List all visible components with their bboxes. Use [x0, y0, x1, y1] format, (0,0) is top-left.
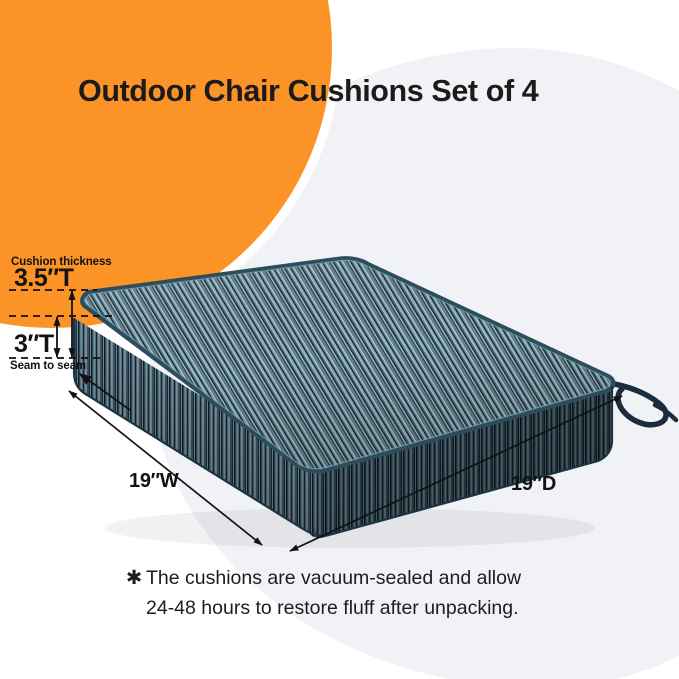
page-title: Outdoor Chair Cushions Set of 4: [78, 74, 538, 109]
footnote-line-1: The cushions are vacuum-sealed and allow: [146, 567, 521, 589]
width-label: 19″W: [129, 470, 179, 493]
seam-caption: Seam to seam: [10, 360, 86, 372]
footnote-line-2: 24-48 hours to restore fluff after unpac…: [126, 593, 521, 623]
footnote: ✱The cushions are vacuum-sealed and allo…: [126, 563, 521, 623]
seam-value-label: 3″T: [14, 330, 54, 359]
cushion-tie-strap: [609, 383, 676, 425]
thickness-value-label: 3.5″T: [14, 264, 74, 293]
infographic-canvas: Outdoor Chair Cushions Set of 4: [0, 0, 679, 679]
depth-label: 19″D: [511, 473, 556, 496]
asterisk-icon: ✱: [126, 563, 146, 593]
